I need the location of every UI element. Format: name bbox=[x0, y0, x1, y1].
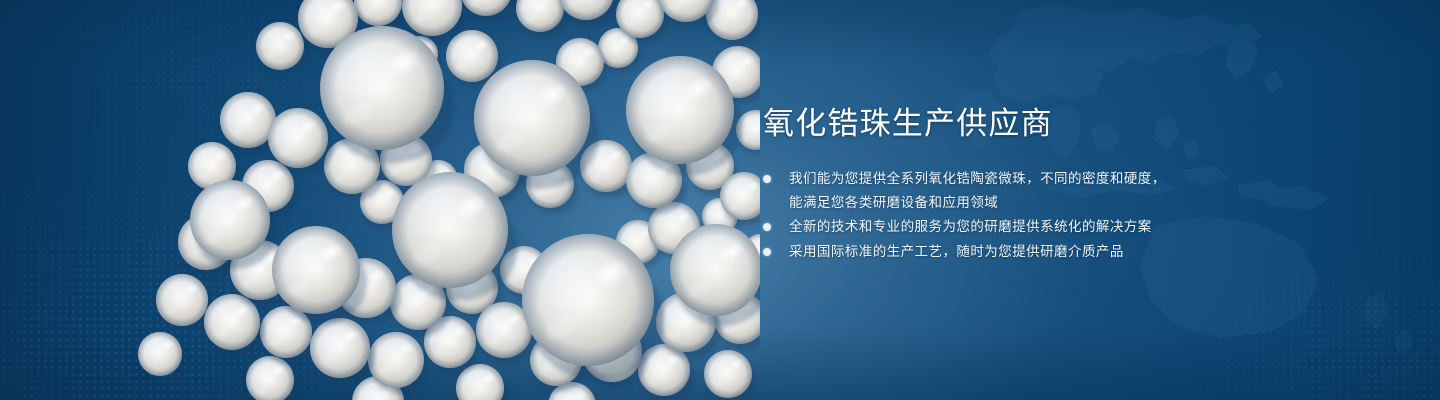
bullet-dot-icon bbox=[763, 248, 771, 256]
list-item: 全新的技术和专业的服务为您的研磨提供系统化的解决方案 bbox=[763, 215, 1323, 239]
bullet-dot-icon bbox=[763, 223, 771, 231]
bullet-line-1: 采用国际标准的生产工艺，随时为您提供研磨介质产品 bbox=[789, 244, 1124, 259]
zirconia-beads-image bbox=[120, 0, 760, 400]
page-title: 氧化锆珠生产供应商 bbox=[763, 104, 1323, 143]
list-item: 我们能为您提供全系列氧化锆陶瓷微珠，不同的密度和硬度， 能满足您各类研磨设备和应… bbox=[763, 167, 1323, 214]
feature-bullet-list: 我们能为您提供全系列氧化锆陶瓷微珠，不同的密度和硬度， 能满足您各类研磨设备和应… bbox=[763, 167, 1323, 263]
beads-illustration bbox=[120, 0, 760, 400]
list-item: 采用国际标准的生产工艺，随时为您提供研磨介质产品 bbox=[763, 240, 1323, 264]
bullet-line-2: 能满足您各类研磨设备和应用领域 bbox=[789, 191, 1323, 215]
bullet-dot-icon bbox=[763, 175, 771, 183]
hero-banner: 氧化锆珠生产供应商 我们能为您提供全系列氧化锆陶瓷微珠，不同的密度和硬度， 能满… bbox=[0, 0, 1440, 400]
bullet-line-1: 全新的技术和专业的服务为您的研磨提供系统化的解决方案 bbox=[789, 219, 1152, 234]
banner-copy: 氧化锆珠生产供应商 我们能为您提供全系列氧化锆陶瓷微珠，不同的密度和硬度， 能满… bbox=[763, 104, 1323, 264]
bullet-line-1: 我们能为您提供全系列氧化锆陶瓷微珠，不同的密度和硬度， bbox=[789, 171, 1166, 186]
